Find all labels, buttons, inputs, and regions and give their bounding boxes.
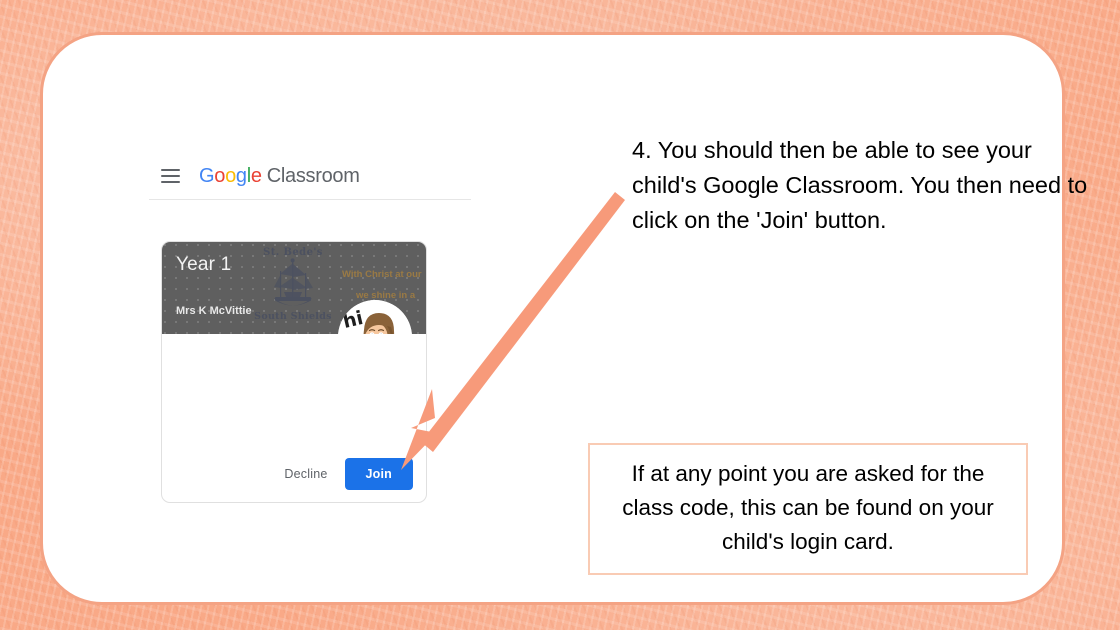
- class-name-label: Year 1: [176, 254, 231, 276]
- class-teacher-label: Mrs K McVittie: [176, 305, 252, 317]
- hamburger-menu-icon[interactable]: [161, 169, 180, 183]
- school-motto: With Christ at our we shine in a: [342, 264, 426, 306]
- logo-letter-o2: o: [225, 165, 236, 187]
- school-crest: St. Bede's: [250, 244, 336, 334]
- logo-letter-g2: g: [236, 165, 247, 187]
- classroom-top-bar: GoogleClassroom: [149, 153, 471, 200]
- slide-card: GoogleClassroom Year 1 Mrs K McVittie St…: [40, 32, 1065, 605]
- decline-button[interactable]: Decline: [274, 460, 337, 488]
- logo-letter-g: G: [199, 165, 214, 187]
- sailing-ship-icon: [262, 257, 324, 313]
- class-card-banner: Year 1 Mrs K McVittie St. Bede's: [162, 242, 426, 334]
- class-card-actions: Decline Join: [162, 450, 426, 498]
- instruction-text: 4. You should then be able to see your c…: [632, 133, 1092, 238]
- class-code-note-text: If at any point you are asked for the cl…: [622, 461, 993, 554]
- class-invitation-card[interactable]: Year 1 Mrs K McVittie St. Bede's: [161, 241, 427, 503]
- product-name-label: Classroom: [267, 165, 360, 187]
- logo-letter-o1: o: [214, 165, 225, 187]
- logo-letter-e: e: [251, 165, 262, 187]
- class-card-body: [162, 334, 426, 450]
- google-classroom-wordmark: GoogleClassroom: [199, 165, 360, 188]
- class-code-note-box: If at any point you are asked for the cl…: [588, 443, 1028, 575]
- google-classroom-screenshot: GoogleClassroom Year 1 Mrs K McVittie St…: [149, 153, 471, 200]
- motto-line-1: With Christ at our: [342, 269, 422, 280]
- join-button[interactable]: Join: [345, 458, 414, 490]
- crest-bottom-label: South Shields: [250, 311, 336, 322]
